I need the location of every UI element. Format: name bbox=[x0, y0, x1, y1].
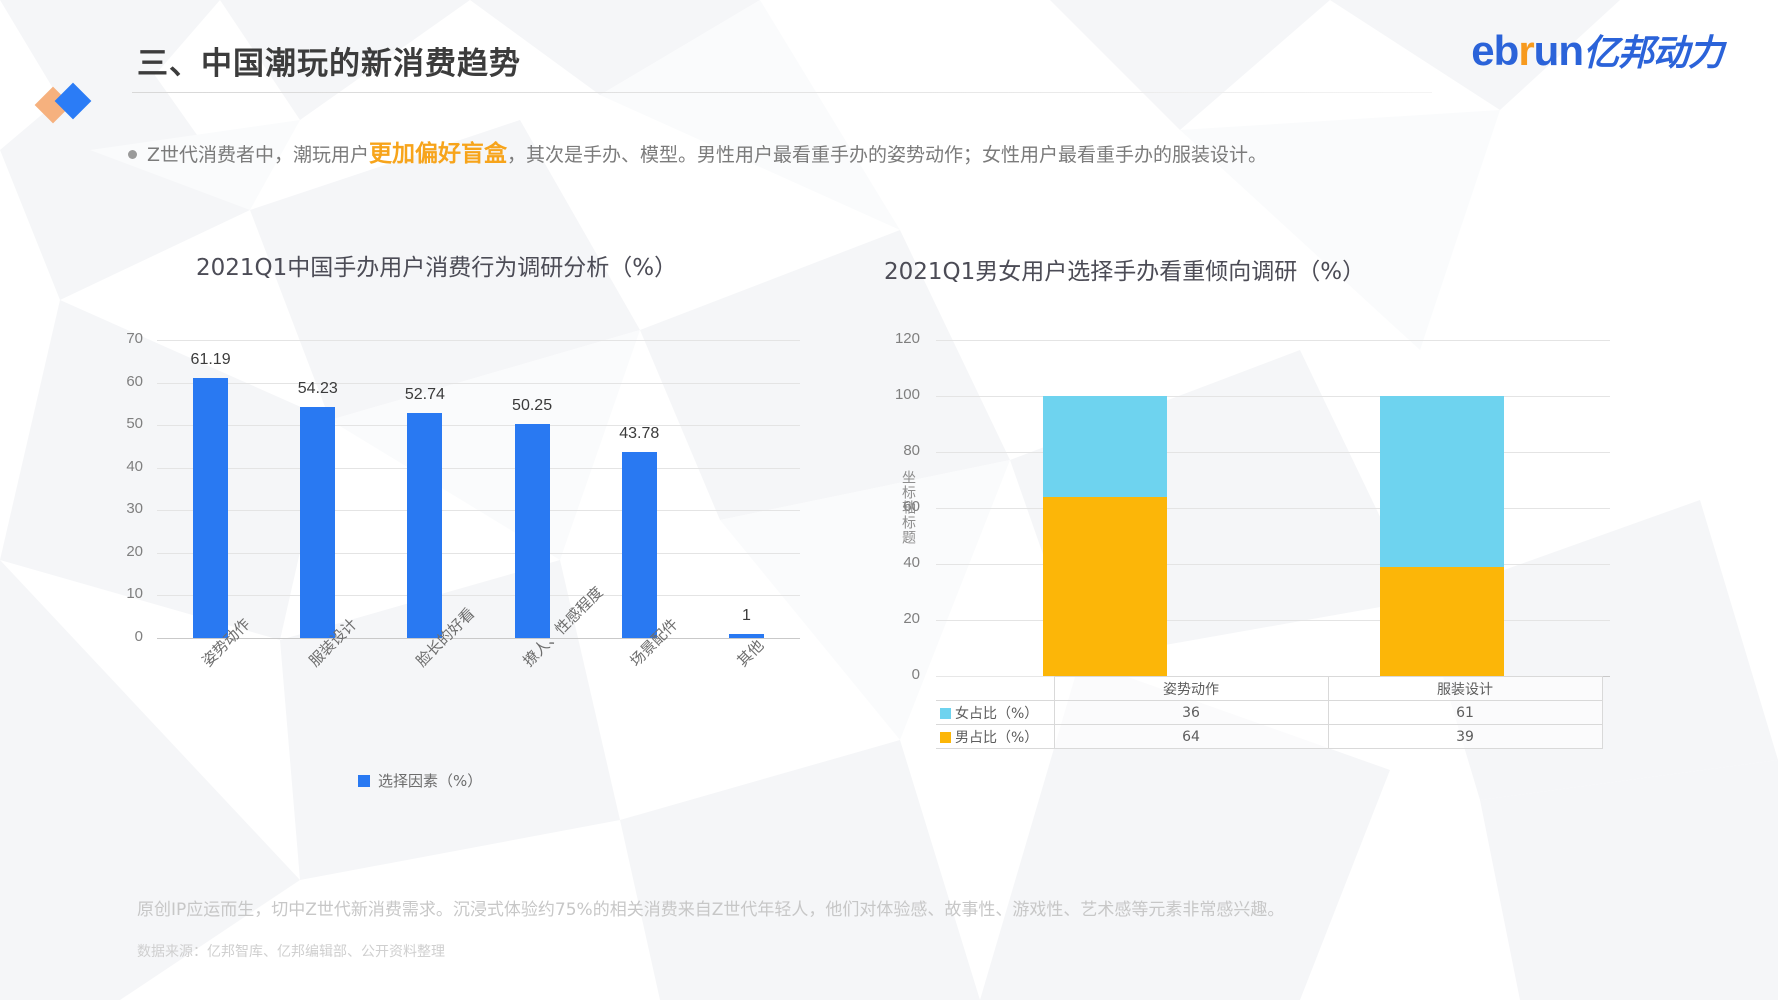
left-chart-gridline bbox=[157, 383, 800, 384]
left-chart-bar-value: 61.19 bbox=[166, 351, 256, 369]
footer-note: 原创IP应运而生，切中Z世代新消费需求。沉浸式体验约75%的相关消费来自Z世代年… bbox=[137, 895, 1284, 920]
ebrun-logo: ebrun亿邦动力 bbox=[1471, 30, 1723, 72]
left-chart-gridline bbox=[157, 638, 800, 639]
left-chart-bar bbox=[729, 634, 764, 638]
logo-text-cn: 亿邦动力 bbox=[1583, 33, 1723, 74]
bullet-dot-icon bbox=[128, 150, 137, 159]
left-chart-bar bbox=[515, 424, 550, 638]
right-chart-gridline bbox=[936, 620, 1610, 621]
table-column-header: 服装设计 bbox=[1328, 677, 1602, 701]
table-legend-swatch-icon bbox=[940, 708, 951, 719]
table-row: 女占比（%）3661 bbox=[936, 701, 1602, 725]
left-chart-bar bbox=[193, 378, 228, 638]
right-chart-bar-segment bbox=[1380, 396, 1504, 567]
right-chart-data-table: 姿势动作服装设计女占比（%）3661男占比（%）6439 bbox=[936, 676, 1603, 749]
logo-text-un: un bbox=[1534, 27, 1583, 74]
left-chart-y-tick: 30 bbox=[99, 500, 143, 517]
table-row-header: 男占比（%） bbox=[936, 725, 1054, 749]
right-chart-y-tick: 100 bbox=[874, 386, 920, 403]
right-chart-bar-segment bbox=[1380, 567, 1504, 676]
left-chart-bar-value: 1 bbox=[701, 607, 791, 625]
right-chart-gridline bbox=[936, 564, 1610, 565]
right-chart-gridline bbox=[936, 452, 1610, 453]
slide-header: 三、中国潮玩的新消费趋势 ebrun亿邦动力 bbox=[0, 0, 1778, 130]
left-chart-bar-value: 54.23 bbox=[273, 380, 363, 398]
logo-text-r: r bbox=[1518, 27, 1533, 74]
table-cell: 36 bbox=[1054, 701, 1328, 725]
right-chart-y-tick: 120 bbox=[874, 330, 920, 347]
right-chart-y-tick: 20 bbox=[874, 610, 920, 627]
table-cell: 64 bbox=[1054, 725, 1328, 749]
right-chart-bar-segment bbox=[1043, 396, 1167, 497]
left-chart-legend: 选择因素（%） bbox=[358, 770, 482, 791]
table-column-header: 姿势动作 bbox=[1054, 677, 1328, 701]
left-chart-gridline bbox=[157, 595, 800, 596]
left-chart-bar bbox=[300, 407, 335, 638]
bullet-text-after: ，其次是手办、模型。男性用户最看重手办的姿势动作；女性用户最看重手办的服装设计。 bbox=[507, 144, 1267, 166]
left-chart-bar bbox=[622, 452, 657, 638]
table-corner-cell bbox=[936, 677, 1054, 701]
right-chart-gridline bbox=[936, 340, 1610, 341]
right-chart-y-tick: 0 bbox=[874, 666, 920, 683]
left-chart-y-tick: 0 bbox=[99, 628, 143, 645]
left-chart-gridline bbox=[157, 553, 800, 554]
logo-text-eb: eb bbox=[1471, 27, 1518, 74]
right-chart-y-tick: 40 bbox=[874, 554, 920, 571]
left-chart-gridline bbox=[157, 425, 800, 426]
left-chart-gridline bbox=[157, 468, 800, 469]
right-chart-bar-segment bbox=[1043, 497, 1167, 676]
left-chart-category-label: 其他 bbox=[732, 635, 768, 671]
table-cell: 39 bbox=[1328, 725, 1602, 749]
left-chart-gridline bbox=[157, 340, 800, 341]
left-chart-title: 2021Q1中国手办用户消费行为调研分析（%） bbox=[196, 248, 677, 282]
bullet-text-before: Z世代消费者中，潮玩用户 bbox=[147, 144, 369, 166]
right-chart-y-tick: 80 bbox=[874, 442, 920, 459]
right-chart-gridline bbox=[936, 396, 1610, 397]
title-divider bbox=[132, 92, 1432, 93]
table-row-header: 女占比（%） bbox=[936, 701, 1054, 725]
left-chart-bar-value: 50.25 bbox=[487, 397, 577, 415]
left-chart-y-tick: 70 bbox=[99, 330, 143, 347]
table-legend-swatch-icon bbox=[940, 732, 951, 743]
bullet-highlight: 更加偏好盲盒 bbox=[369, 141, 507, 167]
left-chart-y-tick: 20 bbox=[99, 543, 143, 560]
table-row: 男占比（%）6439 bbox=[936, 725, 1602, 749]
left-chart-bar-value: 43.78 bbox=[594, 425, 684, 443]
left-chart-y-tick: 40 bbox=[99, 458, 143, 475]
legend-label: 选择因素（%） bbox=[378, 770, 482, 791]
diamond-decoration-icon bbox=[38, 86, 108, 122]
left-chart-y-tick: 50 bbox=[99, 415, 143, 432]
right-chart-title: 2021Q1男女用户选择手办看重倾向调研（%） bbox=[884, 252, 1365, 286]
bullet-text: Z世代消费者中，潮玩用户更加偏好盲盒，其次是手办、模型。男性用户最看重手办的姿势… bbox=[147, 140, 1267, 170]
bullet-point: Z世代消费者中，潮玩用户更加偏好盲盒，其次是手办、模型。男性用户最看重手办的姿势… bbox=[128, 140, 1267, 170]
left-chart-bar-value: 52.74 bbox=[380, 386, 470, 404]
table-cell: 61 bbox=[1328, 701, 1602, 725]
left-chart-y-tick: 60 bbox=[99, 373, 143, 390]
legend-swatch-icon bbox=[358, 775, 370, 787]
left-chart-gridline bbox=[157, 510, 800, 511]
footer-source: 数据来源：亿邦智库、亿邦编辑部、公开资料整理 bbox=[137, 941, 445, 961]
page-title: 三、中国潮玩的新消费趋势 bbox=[137, 38, 521, 83]
right-chart-y-tick: 60 bbox=[874, 498, 920, 515]
left-chart-y-tick: 10 bbox=[99, 585, 143, 602]
right-chart-gridline bbox=[936, 508, 1610, 509]
table-row: 姿势动作服装设计 bbox=[936, 677, 1602, 701]
left-chart-bar bbox=[407, 413, 442, 638]
